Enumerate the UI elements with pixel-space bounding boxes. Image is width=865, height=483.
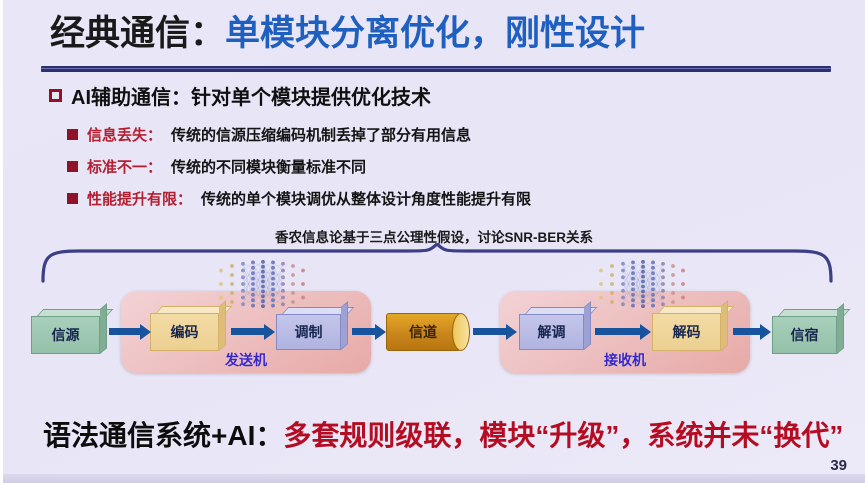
curly-brace-icon [39, 243, 835, 283]
page-title-lead: 经典通信： [50, 14, 225, 53]
list-item: 信息丢失： 传统的信源压缩编码机制丢掉了部分有用信息 [67, 124, 471, 145]
arrow-encoder-to-modulator [231, 328, 265, 335]
summary-line: 语法通信系统+AI：多套规则级联，模块“升级”，系统并未“换代” [43, 414, 843, 454]
block-channel-label: 信道 [386, 313, 470, 351]
square-bullet-icon [67, 129, 78, 140]
block-demodulator-side [584, 301, 591, 350]
receiver-group-label: 接收机 [500, 350, 750, 370]
page-title-highlight: 单模块分离优化，刚性设计 [225, 14, 645, 53]
square-bullet-icon [67, 161, 78, 172]
summary-highlight: 多套规则级联，模块“升级”，系统并未“换代” [283, 420, 843, 451]
arrow-demodulator-to-decoder [595, 328, 641, 335]
summary-lead: 语法通信系统+AI： [43, 420, 283, 451]
block-decoder[interactable]: 解码 [652, 306, 728, 351]
neural-network-icon [215, 254, 307, 314]
block-sink-side [837, 303, 844, 354]
list-item-key: 信息丢失： [87, 124, 162, 145]
block-demodulator-label: 解调 [519, 314, 584, 350]
square-bullet-icon [67, 193, 78, 204]
main-bullet: AI辅助通信：针对单个模块提供优化技术 [49, 81, 431, 110]
slide-canvas: 经典通信：单模块分离优化，刚性设计 AI辅助通信：针对单个模块提供优化技术 信息… [0, 0, 865, 483]
block-encoder[interactable]: 编码 [150, 306, 226, 351]
block-encoder-label: 编码 [150, 313, 219, 351]
block-sink-label: 信宿 [772, 316, 837, 354]
list-item-key: 标准不一： [87, 156, 162, 177]
neural-network-icon [595, 254, 687, 314]
block-source-side [100, 303, 107, 354]
block-modulator-label: 调制 [276, 314, 341, 350]
page-title: 经典通信：单模块分离优化，刚性设计 [50, 12, 645, 56]
list-item: 标准不一： 传统的不同模块衡量标准不同 [67, 156, 366, 177]
block-source-label: 信源 [31, 316, 100, 354]
footer-strip [3, 474, 865, 483]
list-item-value: 传统的不同模块衡量标准不同 [171, 156, 366, 177]
block-encoder-side [219, 300, 226, 351]
arrow-source-to-encoder [109, 328, 141, 335]
main-bullet-label: AI辅助通信：针对单个模块提供优化技术 [71, 81, 431, 110]
block-sink[interactable]: 信宿 [772, 309, 844, 354]
arrow-modulator-to-channel [352, 328, 376, 335]
block-modulator[interactable]: 调制 [276, 307, 348, 350]
list-item: 性能提升有限： 传统的单个模块调优从整体设计角度性能提升有限 [67, 188, 531, 209]
arrow-decoder-to-sink [733, 328, 761, 335]
page-number: 39 [830, 457, 847, 474]
list-item-value: 传统的信源压缩编码机制丢掉了部分有用信息 [171, 124, 471, 145]
list-item-key: 性能提升有限： [87, 188, 192, 209]
block-decoder-label: 解码 [652, 313, 721, 351]
transmitter-group-label: 发送机 [121, 350, 371, 370]
hollow-square-bullet-icon [49, 89, 62, 102]
block-modulator-side [341, 301, 348, 350]
communication-system-diagram: 发送机 接收机 信源 编码 调制 [3, 280, 865, 390]
title-divider [41, 66, 831, 72]
block-channel[interactable]: 信道 [386, 313, 470, 351]
block-decoder-side [721, 300, 728, 351]
block-source[interactable]: 信源 [31, 309, 107, 354]
arrow-channel-to-demodulator [473, 328, 507, 335]
block-demodulator[interactable]: 解调 [519, 307, 591, 350]
list-item-value: 传统的单个模块调优从整体设计角度性能提升有限 [201, 188, 531, 209]
